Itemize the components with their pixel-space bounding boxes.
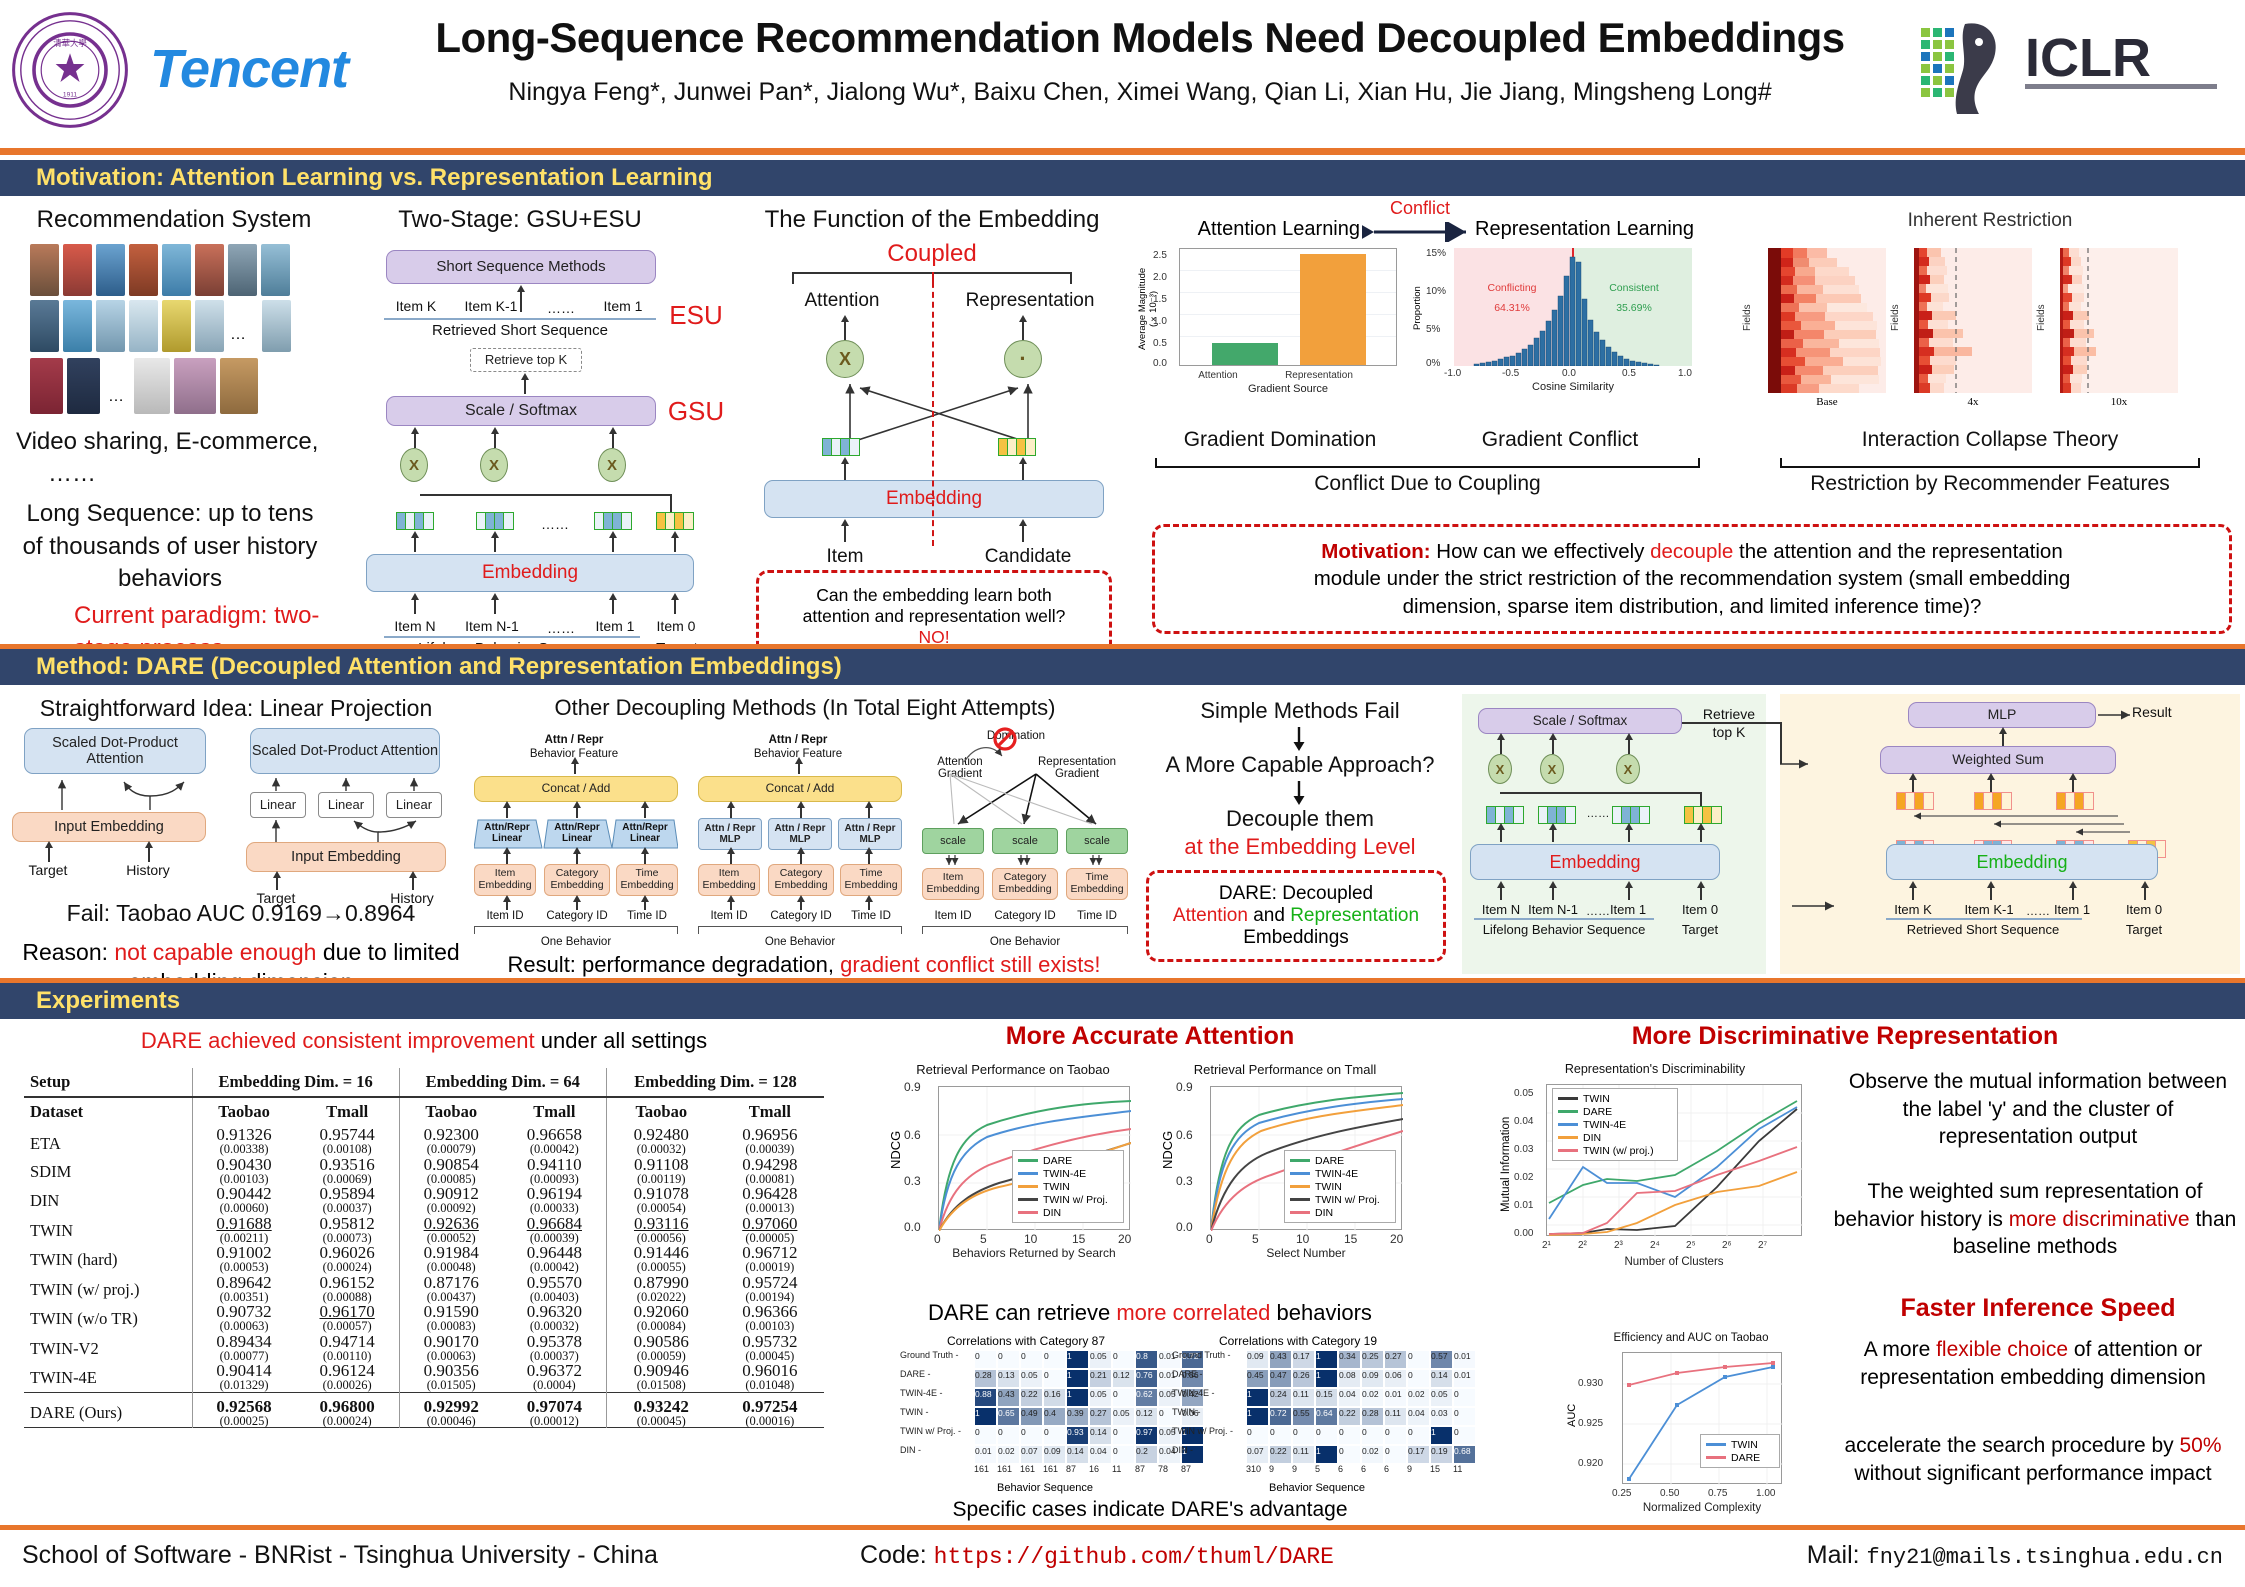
item-1-dare: Item 1 <box>1604 902 1652 917</box>
retrieve-caption-hl: more correlated <box>1116 1300 1270 1325</box>
table-cell: 0.96428(0.00013) <box>716 1185 824 1215</box>
heatmap-cell: 0.02 <box>1361 1388 1384 1407</box>
row-label: TWIN (w/ proj.) <box>24 1274 192 1304</box>
heatmap-cell: 0 <box>1112 1426 1135 1445</box>
short-seq-methods-box: Short Sequence Methods <box>386 250 656 284</box>
x-tick: 20 <box>1390 1232 1403 1246</box>
right-para-1: Observe the mutual information between t… <box>1838 1068 2238 1151</box>
other-decoupling-title: Other Decoupling Methods (In Total Eight… <box>470 695 1140 721</box>
y-tick: 0.0 <box>1176 1220 1193 1234</box>
table-cell: 0.90170(0.00063) <box>399 1333 503 1363</box>
heatmap-cell: 0.76 <box>1135 1369 1158 1388</box>
row-label: ETA <box>24 1126 192 1156</box>
result-prefix: Result: performance degradation, <box>507 952 840 977</box>
x-tick: 0 <box>934 1232 941 1246</box>
table-cell: 0.96956(0.00039) <box>716 1126 824 1156</box>
photo-row-1 <box>30 244 290 296</box>
linear-projection-title: Straightforward Idea: Linear Projection <box>16 695 456 722</box>
bar-representation <box>1300 254 1366 365</box>
table-cell: 0.96712(0.00019) <box>716 1244 824 1274</box>
table-cell: 0.89434(0.00077) <box>192 1333 296 1363</box>
motivation-label: Motivation: <box>1321 540 1430 563</box>
time-id-b: Time ID <box>840 910 902 922</box>
code-label: Code: <box>860 1541 934 1569</box>
scale-box-3: scale <box>1066 828 1128 854</box>
table-cell: 0.95378(0.00037) <box>503 1333 607 1363</box>
table-cell: 0.90912(0.00092) <box>399 1185 503 1215</box>
arrow-up-icon <box>1552 738 1554 754</box>
y-tick: 0.3 <box>904 1174 921 1188</box>
heatmap-cell: 0 <box>1112 1388 1135 1407</box>
y-tick: 0.0 <box>904 1220 921 1234</box>
heatmap-cell: 0.88 <box>974 1388 997 1407</box>
gradient-conflict-caption: Gradient Conflict <box>1430 428 1690 452</box>
chart-legend: TWIN DARE <box>1700 1434 1780 1468</box>
heatmap-cell: 0.93 <box>1066 1426 1089 1445</box>
embedding-cells-item <box>822 438 860 456</box>
arrow-up-icon <box>1552 886 1554 900</box>
heatmap-cell: 1 <box>1430 1426 1453 1445</box>
table-cell: 0.90586(0.00059) <box>606 1333 715 1363</box>
item-embedding-b: Item Embedding <box>698 864 760 896</box>
table-cell: 0.93242(0.00045) <box>606 1392 715 1428</box>
dot-op-icon: · <box>1004 340 1042 378</box>
heatmap-row-label: TWIN-4E - <box>900 1388 974 1407</box>
heatmap-10x <box>2060 248 2178 393</box>
heatmap-cell: 0.27 <box>1384 1350 1407 1369</box>
table-cell: 0.95744(0.00108) <box>296 1126 400 1156</box>
heatmap-cell: 0 <box>1453 1388 1476 1407</box>
heatmap-corner <box>1172 1464 1246 1478</box>
heatmap-row-label: TWIN-4E - <box>1172 1388 1246 1407</box>
y-tick: 15% <box>1426 248 1446 259</box>
heatmap-cell: 0.13 <box>997 1369 1020 1388</box>
item-k-dare: Item K <box>1884 902 1942 917</box>
heatmap-col-label: 9 <box>1407 1464 1430 1478</box>
one-behavior-bracket-a <box>474 926 678 934</box>
x-axis-label: Cosine Similarity <box>1454 381 1692 393</box>
table-cell: 0.90946(0.01508) <box>606 1362 715 1392</box>
heatmap-cell: 0 <box>1020 1426 1043 1445</box>
x-tick: 1.0 <box>1678 368 1692 379</box>
row-label: DARE (Ours) <box>24 1392 192 1428</box>
arrow-right-icon <box>1790 898 1842 914</box>
table-cell: 0.87990(0.02022) <box>606 1274 715 1304</box>
table-cell: 0.96800(0.00024) <box>296 1392 400 1428</box>
heatmap-col-label: 16 <box>1089 1464 1112 1478</box>
weighted-sum-box: Weighted Sum <box>1880 746 2116 774</box>
items-ellipsis-bottom: …… <box>532 620 590 636</box>
th-tmall-128: Tmall <box>716 1097 824 1126</box>
y-tick: 0.01 <box>1514 1200 1533 1211</box>
item-n-1: Item N-1 <box>452 618 532 634</box>
table-cell: 0.91590(0.00083) <box>399 1303 503 1333</box>
heatmap-row-label: Ground Truth - <box>900 1350 974 1369</box>
concat-add-b: Concat / Add <box>698 776 902 802</box>
heatmap-cell: 0.05 <box>1112 1407 1135 1426</box>
arrow-up-icon <box>1990 886 1992 900</box>
reason-prefix: Reason: <box>22 939 114 965</box>
x-tick: 5 <box>1252 1232 1259 1246</box>
simple-methods-fail: Simple Methods Fail <box>1150 698 1450 724</box>
table-cell: 0.93516(0.00069) <box>296 1156 400 1186</box>
heatmap-cell: 0.43 <box>1269 1350 1292 1369</box>
table-row: DIN0.90442(0.00060)0.95894(0.00037)0.909… <box>24 1185 824 1215</box>
arrow-up-icon <box>1628 738 1630 754</box>
table-cell: 0.96026(0.00024) <box>296 1244 400 1274</box>
more-discriminative-heading: More Discriminative Representation <box>1450 1022 2240 1051</box>
heatmap-cell: 0.04 <box>1089 1445 1112 1464</box>
section-title-motivation: Motivation: Attention Learning vs. Repre… <box>0 164 713 192</box>
embedding-cells <box>396 512 434 530</box>
table-cell: 0.95724(0.00194) <box>716 1274 824 1304</box>
items-ellipsis-top: …… <box>532 300 590 316</box>
arrow-up-icon <box>2144 886 2146 900</box>
scale-box-2: scale <box>992 828 1058 854</box>
embedding-cells <box>476 512 514 530</box>
arrow-up-icon <box>494 536 496 552</box>
attn-repr-a: Attn / Repr <box>474 734 674 746</box>
chart-legend: TWIN DARE TWIN-4E DIN TWIN (w/ proj.) <box>1552 1088 1678 1161</box>
heatmap-cell: 0 <box>1338 1445 1361 1464</box>
table-cell: 0.87176(0.00437) <box>399 1274 503 1304</box>
arrow-up-icon <box>1552 828 1554 842</box>
arrow-up-icon <box>1500 828 1502 842</box>
th-taobao-16: Taobao <box>192 1097 296 1126</box>
time-embedding-b: Time Embedding <box>840 864 902 896</box>
heatmap-cell: 0 <box>1292 1426 1315 1445</box>
table-cell: 0.92636(0.00052) <box>399 1215 503 1245</box>
heatmap-cell: 0.12 <box>1112 1369 1135 1388</box>
y-tick: 0.6 <box>904 1128 921 1142</box>
attn-repr-mlp-2: Attn / Repr MLP <box>768 818 832 850</box>
heatmap-cell: 0 <box>974 1426 997 1445</box>
cross-op-icon: X <box>1540 754 1564 784</box>
seq-underline-right <box>1886 918 2082 920</box>
arrow-up-icon <box>644 852 646 864</box>
arrow-up-icon <box>800 806 802 818</box>
retrieved-short-right: Retrieved Short Sequence <box>1876 922 2090 937</box>
arrow-up-icon <box>506 806 508 818</box>
legend-twin-proj: TWIN w/ Proj. <box>1043 1194 1108 1206</box>
right-para-3a: A more <box>1864 1338 1936 1361</box>
target-dare: Target <box>1676 922 1724 937</box>
item-k-1: Item K-1 <box>452 298 530 314</box>
heatmap-col-label: 161 <box>974 1464 997 1478</box>
heatmap-cell: 1 <box>1066 1388 1089 1407</box>
y-tick: 0.03 <box>1514 1144 1533 1155</box>
y-axis-label: Average Magnitude (×10⁻³) <box>1137 250 1153 368</box>
heatmap-row-label: TWIN - <box>1172 1407 1246 1426</box>
heatmap-cell: 1 <box>1315 1445 1338 1464</box>
gradient-arrows <box>918 740 1134 830</box>
retrieve-label: Retrieve <box>1690 706 1768 722</box>
arrow-up-icon <box>576 900 578 910</box>
y-tick: 0.6 <box>1176 1128 1193 1142</box>
y-tick: 0.00 <box>1514 1228 1533 1239</box>
annotation-consistent-label: Consistent <box>1584 282 1684 294</box>
item-id-c: Item ID <box>922 910 984 922</box>
scale-softmax-box: Scale / Softmax <box>386 396 656 426</box>
scaled-dot-attention-box-b: Scaled Dot-Product Attention <box>250 728 440 774</box>
heatmap-panel-label-10x: 10x <box>2060 396 2178 408</box>
heatmap-cell: 0.62 <box>1135 1388 1158 1407</box>
table-cell: 0.91984(0.00048) <box>399 1244 503 1274</box>
item-0-dare: Item 0 <box>1676 902 1724 917</box>
arrow-up-icon <box>844 462 846 480</box>
heatmap-cell: 0 <box>1315 1426 1338 1445</box>
embedding-cells <box>1486 806 1524 824</box>
arrow-up-icon <box>574 762 576 774</box>
arrow-up-icon <box>1500 886 1502 900</box>
heatmap-title-87: Correlations with Category 87 <box>896 1334 1156 1348</box>
heatmap-col-label: 5 <box>1315 1464 1338 1478</box>
heatmap-cell: 0 <box>1338 1426 1361 1445</box>
table-cell: 0.91446(0.00055) <box>606 1244 715 1274</box>
y-axis-label: NDCG <box>888 1090 902 1210</box>
table-sub-header: Dataset Taobao Tmall Taobao Tmall Taobao… <box>24 1097 824 1126</box>
x-tick: 1.00 <box>1756 1488 1775 1499</box>
table-cell: 0.96124(0.00026) <box>296 1362 400 1392</box>
poster-root: 清華大學 1911 Tencent Long-Sequence Recommen… <box>0 0 2245 1587</box>
at-embedding-level: at the Embedding Level <box>1150 834 1450 860</box>
arrow-up-icon <box>612 432 614 448</box>
x-tick: -0.5 <box>1502 368 1519 379</box>
authors: Ningya Feng*, Junwei Pan*, Jialong Wu*, … <box>380 78 1900 107</box>
heatmap-cell: 0.57 <box>1430 1350 1453 1369</box>
heatmap-cell: 0.39 <box>1066 1407 1089 1426</box>
heatmap-cell: 0.01 <box>1453 1350 1476 1369</box>
x-axis-label: Number of Clusters <box>1546 1256 1802 1268</box>
y-tick: 2.0 <box>1153 272 1167 283</box>
arrow-up-icon <box>414 432 416 448</box>
table-cell: 0.90732(0.00063) <box>192 1303 296 1333</box>
dare-attention: Attention <box>1173 905 1248 926</box>
y-axis-label: Proportion <box>1412 258 1426 358</box>
heatmap-cell: 0.24 <box>1269 1388 1292 1407</box>
category-id-a: Category ID <box>544 910 610 922</box>
rec-system-caption: Video sharing, E-commerce, <box>16 428 346 456</box>
faster-inference-heading: Faster Inference Speed <box>1838 1294 2238 1323</box>
item-embedding-c: Item Embedding <box>922 868 984 900</box>
heatmap-row-label: TWIN w/ Proj. - <box>1172 1426 1246 1445</box>
dare-and: and <box>1248 905 1290 926</box>
heatmap-col-label: 161 <box>1043 1464 1066 1478</box>
table-cell: 0.94110(0.00093) <box>503 1156 607 1186</box>
x-tick: 0.50 <box>1660 1488 1679 1499</box>
table-cell: 0.91078(0.00054) <box>606 1185 715 1215</box>
heatmap-cell: 0.15 <box>1315 1388 1338 1407</box>
item-embedding-a: Item Embedding <box>474 864 536 896</box>
question-line-1: Can the embedding learn both <box>816 585 1051 606</box>
motivation-callout: Motivation: How can we effectively decou… <box>1152 524 2232 634</box>
footer-divider <box>0 1525 2245 1530</box>
table-cell: 0.92060(0.00084) <box>606 1303 715 1333</box>
concat-add-a: Concat / Add <box>474 776 678 802</box>
chart-title: Retrieval Performance on Tmall <box>1160 1062 1410 1077</box>
heatmap-row-label: TWIN w/ Proj. - <box>900 1426 974 1445</box>
y-tick: 1.5 <box>1153 294 1167 305</box>
retrieve-caption-suffix: behaviors <box>1270 1300 1372 1325</box>
table-cell: 0.96366(0.00103) <box>716 1303 824 1333</box>
section-header-motivation: Motivation: Attention Learning vs. Repre… <box>0 160 2245 196</box>
arrow-up-icon <box>1990 778 1992 792</box>
heatmap-cell: 0 <box>1246 1426 1269 1445</box>
row-label: TWIN (w/o TR) <box>24 1303 192 1333</box>
heatmap-row-label: DIN - <box>1172 1445 1246 1464</box>
heatmap-cell: 0 <box>1407 1369 1430 1388</box>
heatmap-cell: 0.05 <box>1020 1369 1043 1388</box>
mail-address[interactable]: fny21@mails.tsinghua.edu.cn <box>1867 1545 2223 1570</box>
heatmap-cell: 0.04 <box>1338 1388 1361 1407</box>
heatmap-cell: 0.26 <box>1292 1369 1315 1388</box>
retrieve-connector <box>1682 722 1780 724</box>
one-behavior-a: One Behavior <box>474 936 678 948</box>
annotation-consistent-value: 35.69% <box>1584 302 1684 314</box>
arrow-up-icon <box>1912 886 1914 900</box>
fail-text: Fail: Taobao AUC 0.9169→0.8964 <box>16 900 466 927</box>
heatmap-row-label: DARE - <box>1172 1369 1246 1388</box>
results-table-wrap: Setup Embedding Dim. = 16 Embedding Dim.… <box>24 1068 824 1432</box>
heatmap-cell: 0.14 <box>1066 1445 1089 1464</box>
section-title-experiments: Experiments <box>0 987 180 1015</box>
arrow-up-icon <box>506 852 508 864</box>
heatmap-cell: 0.11 <box>1292 1388 1315 1407</box>
arrow-up-icon <box>414 598 416 614</box>
embedding-box-attention: Embedding <box>1470 844 1720 880</box>
y-tick: 0.0 <box>1153 358 1167 369</box>
arrow-up-icon <box>868 806 870 818</box>
affiliation: School of Software - BNRist - Tsinghua U… <box>22 1541 658 1570</box>
conflict-coupling-caption: Conflict Due to Coupling <box>1155 472 1700 496</box>
heatmap-cell: 0.01 <box>1453 1369 1476 1388</box>
x-tick: -1.0 <box>1444 368 1461 379</box>
x-tick: 0.5 <box>1622 368 1636 379</box>
heatmap-cell: 0.09 <box>1246 1350 1269 1369</box>
restriction-bracket <box>1780 458 2200 468</box>
results-table: Setup Embedding Dim. = 16 Embedding Dim.… <box>24 1068 824 1432</box>
code-url[interactable]: https://github.com/thuml/DARE <box>934 1544 1334 1570</box>
heatmap-cell: 0.07 <box>1020 1445 1043 1464</box>
rec-system-title: Recommendation System <box>24 206 324 234</box>
chart-title: Retrieval Performance on Taobao <box>888 1062 1138 1077</box>
heatmap-cell: 0.25 <box>1361 1350 1384 1369</box>
input-embedding-box-a: Input Embedding <box>12 812 206 842</box>
result-highlight: gradient conflict still exists! <box>840 952 1100 977</box>
ellipsis-photos-2: … <box>108 388 124 406</box>
heatmap-correlations-19: Ground Truth -0.090.430.1710.340.250.270… <box>1172 1350 1476 1478</box>
long-sequence-text: Long Sequence: up to tens of thousands o… <box>20 498 320 596</box>
x-axis-label: Gradient Source <box>1179 383 1397 395</box>
table-cell: 0.93116(0.00056) <box>606 1215 715 1245</box>
heatmap-cell: 0 <box>974 1350 997 1369</box>
heatmap-cell: 0 <box>1453 1407 1476 1426</box>
th-setup: Setup <box>24 1068 192 1097</box>
heatmap-cell: 0.4 <box>1043 1407 1066 1426</box>
arrow-up-icon <box>800 900 802 910</box>
attn-repr-b: Attn / Repr <box>698 734 898 746</box>
heatmap-col-label: 11 <box>1453 1464 1476 1478</box>
right-para-3-hl: flexible choice <box>1936 1338 2068 1361</box>
heatmap-cell: 0 <box>1361 1426 1384 1445</box>
x-tick: 15 <box>1072 1232 1085 1246</box>
poster-header: 清華大學 1911 Tencent Long-Sequence Recommen… <box>0 0 2245 148</box>
table-cell: 0.90356(0.01505) <box>399 1362 503 1392</box>
table-cell: 0.96152(0.00088) <box>296 1274 400 1304</box>
y-tick: 2.5 <box>1153 250 1167 261</box>
embedding-cells-target <box>1684 806 1722 824</box>
chart-legend: DARE TWIN-4E TWIN TWIN w/ Proj. DIN <box>1284 1150 1396 1223</box>
th-dim64: Embedding Dim. = 64 <box>399 1068 606 1097</box>
x-tick: 2⁵ <box>1686 1240 1696 1251</box>
table-cell: 0.89642(0.00351) <box>192 1274 296 1304</box>
connector-line <box>1700 792 1702 806</box>
heatmap-base <box>1768 248 1886 393</box>
one-behavior-bracket-c <box>922 926 1128 934</box>
table-row: TWIN0.91688(0.00211)0.95812(0.00073)0.92… <box>24 1215 824 1245</box>
item-k: Item K <box>382 298 450 314</box>
heatmap-cell: 0.07 <box>1246 1445 1269 1464</box>
heatmap-cell: 0.01 <box>974 1445 997 1464</box>
heatmap-cell: 0 <box>1043 1369 1066 1388</box>
attn-repr-linear-2: Attn/Repr Linear <box>546 822 608 844</box>
section-header-experiments: Experiments <box>0 983 2245 1019</box>
legend-din: DIN <box>1315 1207 1333 1219</box>
conflict-label: Conflict <box>1365 198 1475 219</box>
linear-box-1: Linear <box>250 792 306 818</box>
arrow-up-icon <box>612 598 614 614</box>
heatmap-y-label: Fields <box>1742 258 1760 378</box>
poster-footer: School of Software - BNRist - Tsinghua U… <box>0 1525 2245 1587</box>
heatmap-cell: 0.03 <box>1430 1407 1453 1426</box>
motivation-line3: dimension, sparse item distribution, and… <box>1169 593 2215 620</box>
table-cell: 0.97074(0.00012) <box>503 1392 607 1428</box>
arrow-down-icon <box>1290 726 1308 752</box>
x-tick: 5 <box>980 1232 987 1246</box>
coupling-divider <box>932 272 934 546</box>
heatmap-cell: 0.27 <box>1089 1407 1112 1426</box>
right-para-4a: accelerate the search procedure by <box>1844 1434 2179 1457</box>
embedding-cells <box>1538 806 1576 824</box>
retrieve-topk-box: Retrieve top K <box>470 348 582 372</box>
heatmap-cell: 0 <box>997 1426 1020 1445</box>
x-tick-attention: Attention <box>1185 370 1251 381</box>
heatmap-cell: 0 <box>1407 1426 1430 1445</box>
table-cell: 0.96658(0.00042) <box>503 1126 607 1156</box>
plot-area <box>1179 248 1397 366</box>
time-id-c: Time ID <box>1066 910 1128 922</box>
table-cell: 0.95570(0.00403) <box>503 1274 607 1304</box>
th-dim128: Embedding Dim. = 128 <box>606 1068 824 1097</box>
arrow-up-icon <box>868 852 870 864</box>
embedding-cells <box>1612 806 1650 824</box>
legend-din: DIN <box>1583 1132 1601 1144</box>
item-id-a: Item ID <box>474 910 536 922</box>
table-cell: 0.91326(0.00338) <box>192 1126 296 1156</box>
arrow-up-icon <box>730 806 732 818</box>
y-tick: 0.930 <box>1578 1378 1603 1389</box>
chart-legend: DARE TWIN-4E TWIN TWIN w/ Proj. DIN <box>1012 1150 1124 1223</box>
arrow-up-icon <box>494 598 496 614</box>
x-tick: 10 <box>1024 1232 1037 1246</box>
heatmap-cell: 0 <box>1269 1426 1292 1445</box>
heatmap-col-label: 9 <box>1292 1464 1315 1478</box>
arrow-up-icon <box>674 598 676 614</box>
scale-softmax-dare: Scale / Softmax <box>1478 708 1682 734</box>
restriction-caption: Restriction by Recommender Features <box>1750 472 2230 496</box>
arrow-up-icon <box>1022 320 1024 340</box>
heatmap-cell: 0.02 <box>1361 1445 1384 1464</box>
